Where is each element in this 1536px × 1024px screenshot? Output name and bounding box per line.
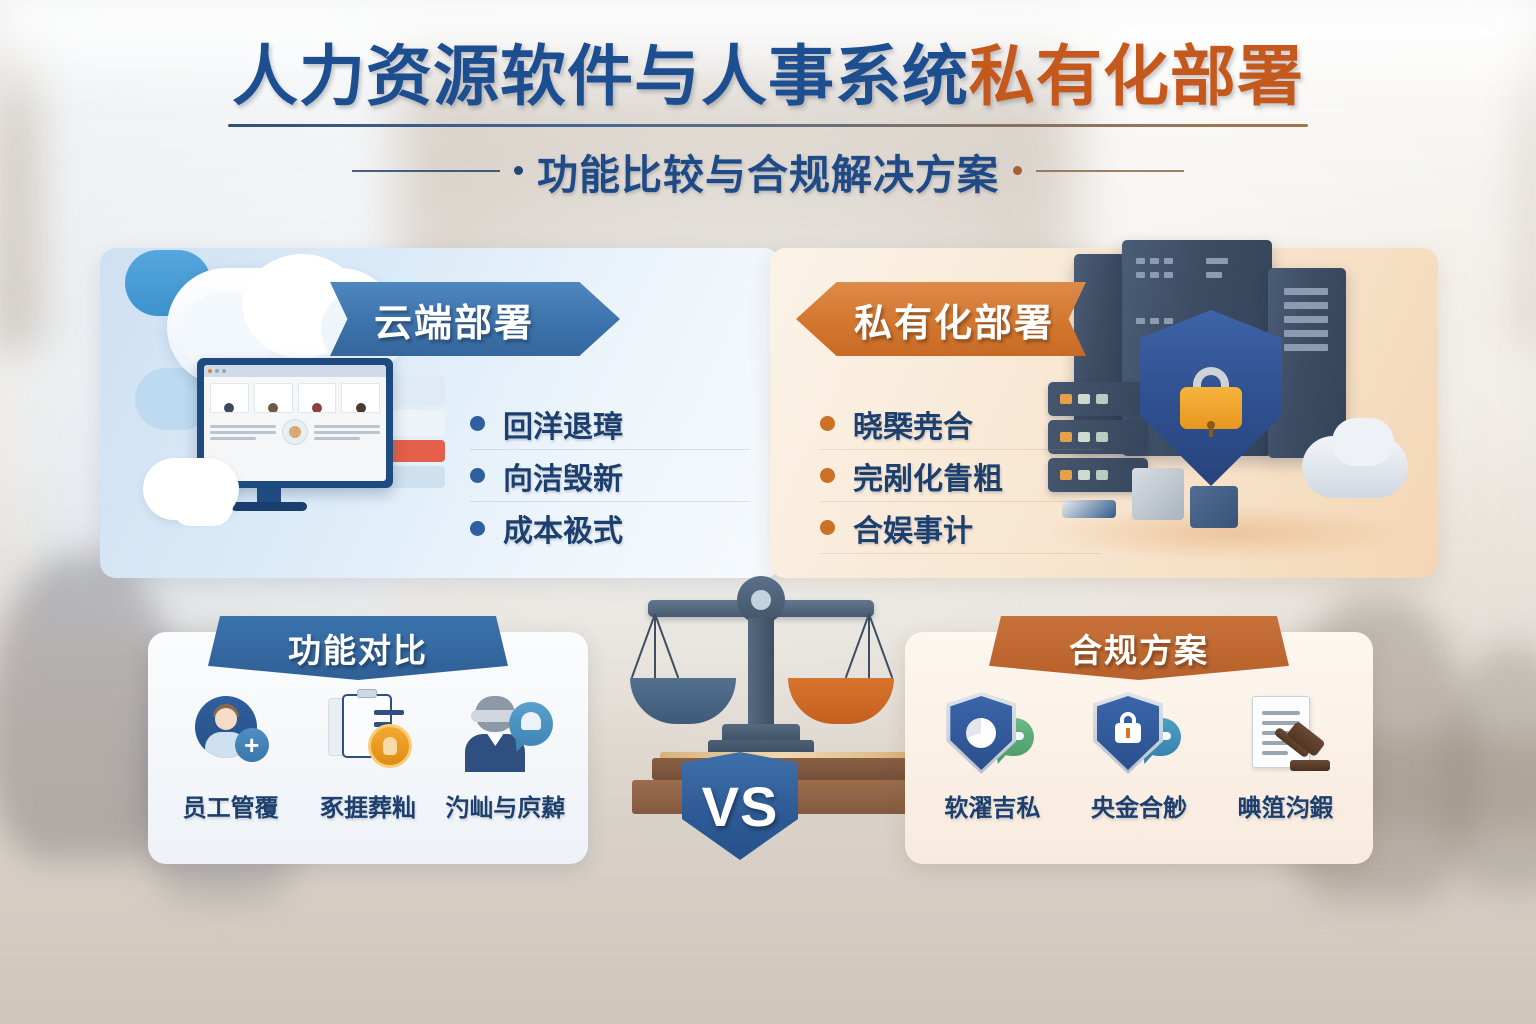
banner-cloud-deployment: 云端部署 (330, 282, 620, 356)
avatar (254, 383, 293, 413)
banner-onpremise-deployment: 私有化部署 (796, 282, 1086, 356)
subtitle-dot-left (514, 166, 523, 175)
onpremise-deployment-bullets: 晓㮣尭合 完剐化眚粗 合娱事计 (820, 398, 1100, 554)
compliance-item-label: 晪䈌汮鍜 (1238, 788, 1334, 823)
window-dot (208, 369, 212, 373)
lock-icon (1115, 723, 1141, 743)
list-item: 完剐化眚粗 (820, 450, 1100, 502)
shield-privacy-icon (944, 694, 1040, 776)
scale-pivot (737, 576, 785, 624)
infographic-canvas: 人力资源软件与人事系统私有化部署 功能比较与合规解决方案 (0, 0, 1536, 1024)
list-item: 成本衱式 (470, 502, 750, 554)
subtitle-row: 功能比较与合规解决方案 (0, 141, 1536, 201)
bullet-dot (820, 520, 835, 535)
list-item: 合娱事计 (820, 502, 1100, 554)
padlock-icon (1180, 367, 1242, 429)
shield-lock-icon (1140, 310, 1282, 486)
cloud-icon (171, 486, 233, 526)
card-compliance-solutions: 合规方案 软濯吉私 (905, 632, 1373, 864)
screen-titlebar (204, 365, 386, 377)
page-subtitle: 功能比较与合规解决方案 (537, 141, 999, 201)
card-feature-comparison: 功能对比 + 员工管覆 (148, 632, 588, 864)
compliance-item-label: 央金合觘 (1091, 788, 1187, 823)
clipboard-coin-icon (320, 694, 416, 776)
avatar (341, 383, 380, 413)
compliance-item-label: 软濯吉私 (944, 788, 1040, 823)
bullet-label: 向洁毁新 (503, 454, 623, 498)
monitor-base (231, 502, 307, 511)
text-lines (314, 425, 380, 440)
card-feature-comparison-heading: 功能对比 (208, 616, 508, 680)
window-dot (215, 369, 219, 373)
monitor-screen (204, 365, 386, 481)
feature-item-label: 员工管覆 (183, 788, 279, 823)
bullet-label: 晓㮣尭合 (853, 402, 973, 446)
title-divider (228, 124, 1308, 127)
feature-icon-row: + 员工管覆 豖捱葬籼 (148, 694, 588, 823)
header: 人力资源软件与人事系统私有化部署 功能比较与合规解决方案 (0, 42, 1536, 201)
text-lines (210, 425, 276, 440)
gavel-block (1290, 760, 1330, 771)
compliance-icon-row: 软濯吉私 央金合觘 (905, 694, 1373, 823)
scale-pan-cloud (630, 678, 736, 724)
avatar (210, 383, 249, 413)
bullet-label: 完剐化眚粗 (853, 454, 1003, 498)
bullet-dot (470, 468, 485, 483)
subtitle-rule-left (352, 170, 500, 172)
compliance-item-security[interactable]: 央金合觘 (1080, 694, 1198, 823)
list-item: 晓㮣尭合 (820, 398, 1100, 450)
page-title-accent: 私有化部署 (969, 39, 1304, 113)
feature-item-payroll[interactable]: 豖捱葬籼 (309, 694, 427, 823)
cloud-deployment-bullets: 回洋退璋 向洁毁新 成本衱式 (470, 398, 750, 554)
bullet-label: 回洋退璋 (503, 402, 623, 446)
bullet-dot (820, 468, 835, 483)
scale-column (748, 618, 774, 730)
subtitle-dot-right (1013, 166, 1022, 175)
plus-icon: + (235, 728, 269, 762)
feature-item-label: 汋屾与㡶繛 (445, 788, 565, 823)
bullet-dot (470, 521, 485, 536)
pie-icon (966, 718, 996, 748)
avatar (282, 419, 308, 445)
list-item: 回洋退璋 (470, 398, 750, 450)
person-add-icon: + (183, 694, 279, 776)
coin-icon (368, 724, 412, 768)
subtitle-rule-right (1036, 170, 1184, 172)
cloud-icon (1332, 418, 1394, 466)
feature-item-label: 豖捱葬籼 (320, 788, 416, 823)
support-chat-icon (457, 694, 553, 776)
bullet-label: 合娱事计 (853, 506, 973, 550)
employee-detail-rows (204, 413, 386, 451)
page-title: 人力资源软件与人事系统私有化部署 (0, 42, 1536, 112)
card-compliance-solutions-heading: 合规方案 (989, 616, 1289, 680)
shield-lock-icon (1091, 694, 1187, 776)
bullet-dot (820, 416, 835, 431)
page-title-primary: 人力资源软件与人事系统 (232, 39, 969, 113)
scale-pan-onpremise (788, 678, 894, 724)
vs-label: VS (702, 774, 779, 839)
list-item: 向洁毁新 (470, 450, 750, 502)
storage-cube-icon (1132, 468, 1184, 520)
document-gavel-icon (1238, 694, 1334, 776)
window-dot (222, 369, 226, 373)
feature-item-employee[interactable]: + 员工管覆 (172, 694, 290, 823)
bullet-dot (470, 416, 485, 431)
feature-item-support[interactable]: 汋屾与㡶繛 (446, 694, 564, 823)
employee-avatar-grid (204, 377, 386, 413)
bullet-label: 成本衱式 (503, 506, 623, 550)
avatar (298, 383, 337, 413)
compliance-item-privacy[interactable]: 软濯吉私 (933, 694, 1051, 823)
compliance-item-legal[interactable]: 晪䈌汮鍜 (1227, 694, 1345, 823)
storage-cube-icon (1190, 486, 1238, 528)
